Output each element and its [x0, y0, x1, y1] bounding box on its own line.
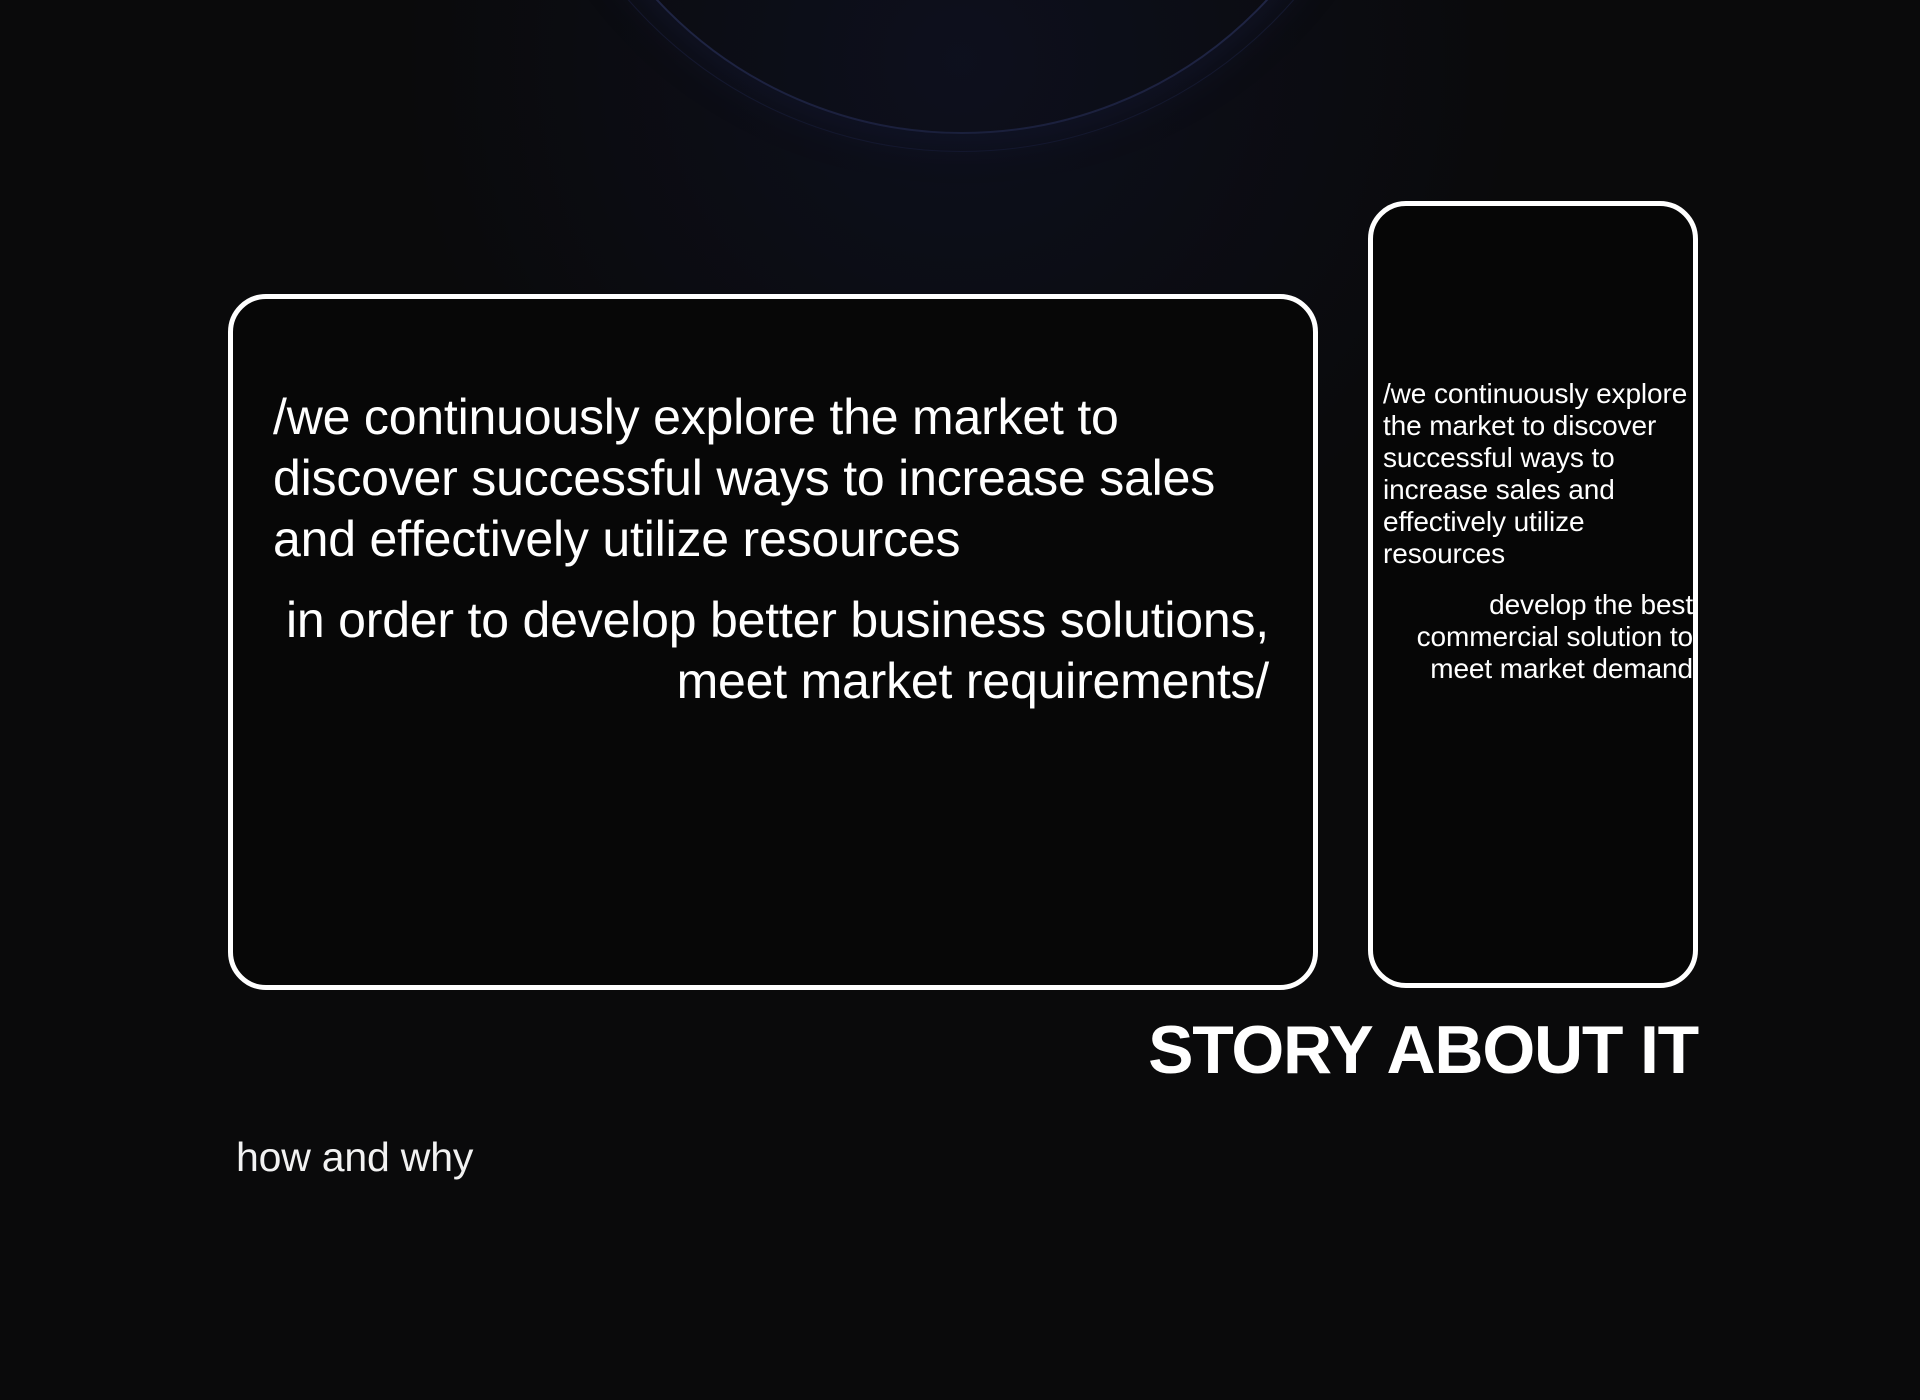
main-statement-lead-paragraph: /we continuously explore the market to d…	[273, 387, 1273, 570]
side-statement-trailing-paragraph: develop the best commercial solution to …	[1381, 589, 1695, 685]
main-statement-panel: /we continuously explore the market to d…	[228, 294, 1318, 990]
main-statement-text-group: /we continuously explore the market to d…	[273, 387, 1273, 712]
page-subtitle: how and why	[236, 1132, 473, 1182]
slide-canvas: /we continuously explore the market to d…	[0, 0, 1920, 1400]
side-statement-text-group: /we continuously explore the market to d…	[1381, 378, 1695, 685]
main-statement-trailing-paragraph: in order to develop better business solu…	[273, 590, 1273, 712]
side-statement-panel: /we continuously explore the market to d…	[1368, 201, 1698, 988]
background-arc-outer-icon	[520, 0, 1402, 152]
page-title: STORY ABOUT IT	[0, 1012, 1698, 1088]
side-statement-lead-paragraph: /we continuously explore the market to d…	[1381, 378, 1695, 570]
background-arc-glow-icon	[545, 0, 1379, 134]
